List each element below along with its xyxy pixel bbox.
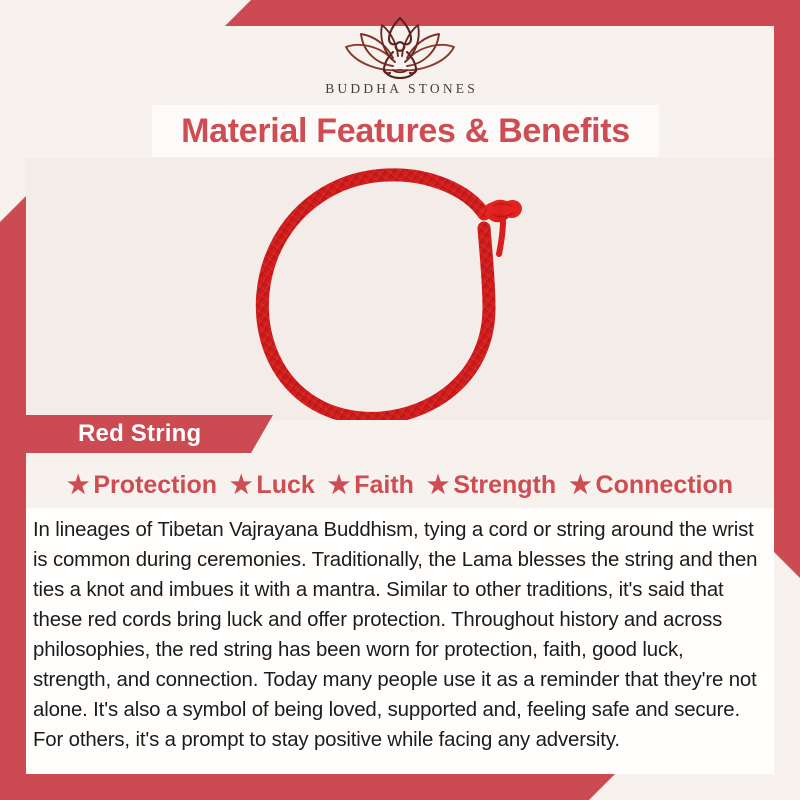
description-body: In lineages of Tibetan Vajrayana Buddhis… [26, 508, 774, 755]
lotus-meditation-figure-icon [337, 12, 463, 80]
product-label-ribbon: Red String [26, 415, 273, 453]
product-label-text: Red String [78, 420, 201, 448]
product-image-stage [26, 158, 774, 420]
brand-header: BUDDHA STONES [0, 12, 800, 97]
star-icon: ★ [230, 473, 252, 498]
benefit-item-luck: ★ Luck [230, 471, 315, 500]
benefit-item-protection: ★ Protection [67, 471, 217, 500]
star-icon: ★ [67, 473, 89, 498]
red-braided-string-bracelet-image [231, 162, 561, 420]
benefit-item-connection: ★ Connection [569, 471, 733, 500]
benefit-label: Strength [453, 471, 556, 500]
star-icon: ★ [427, 473, 449, 498]
benefit-label: Luck [256, 471, 314, 500]
brand-name: BUDDHA STONES [0, 81, 800, 97]
star-icon: ★ [328, 473, 350, 498]
decorative-band-bottom [0, 774, 615, 800]
benefit-label: Connection [596, 471, 734, 500]
title-banner: Material Features & Benefits [152, 105, 659, 157]
benefit-item-strength: ★ Strength [427, 471, 556, 500]
benefit-label: Faith [354, 471, 414, 500]
benefit-label: Protection [93, 471, 217, 500]
infographic-page: BUDDHA STONES Material Features & Benefi… [0, 0, 800, 800]
page-title: Material Features & Benefits [181, 112, 630, 151]
benefits-row: ★ Protection ★ Luck ★ Faith ★ Strength ★… [26, 466, 774, 504]
decorative-band-left [0, 196, 26, 774]
decorative-band-right [774, 26, 800, 578]
benefit-item-faith: ★ Faith [328, 471, 414, 500]
star-icon: ★ [569, 473, 591, 498]
description-panel: In lineages of Tibetan Vajrayana Buddhis… [26, 508, 774, 774]
